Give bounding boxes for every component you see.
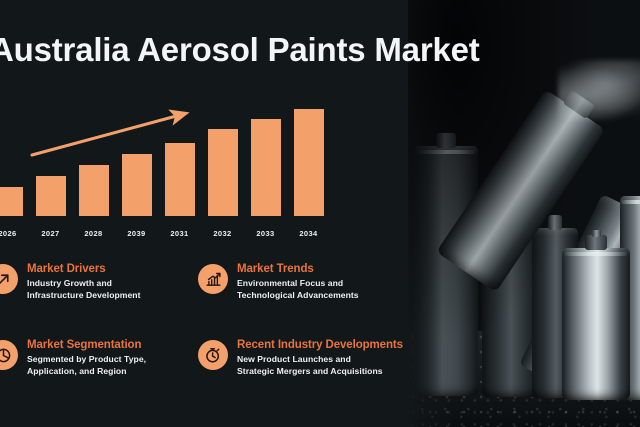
chart-bar — [36, 176, 66, 216]
chart-tick-label: 2027 — [29, 229, 72, 238]
chart-bar — [208, 129, 238, 216]
card-line: Strategic Mergers and Acquisitions — [237, 366, 403, 378]
can-cap — [548, 215, 563, 230]
arrow-up-right-icon — [0, 264, 18, 294]
market-growth-bar-chart: 20262027202820392031203220332034 — [0, 100, 330, 240]
can-cap — [436, 133, 456, 148]
card-text: Market Drivers Industry Growth and Infra… — [27, 262, 141, 302]
can-rim — [565, 252, 628, 256]
card-market-segmentation[interactable]: Market Segmentation Segmented by Product… — [0, 338, 146, 378]
chart-tick-label: 2039 — [115, 229, 158, 238]
card-text: Recent Industry Developments New Product… — [237, 338, 403, 378]
card-heading: Recent Industry Developments — [237, 339, 403, 351]
can-rim — [417, 150, 476, 154]
card-heading: Market Trends — [237, 263, 359, 275]
card-heading: Market Segmentation — [27, 339, 146, 351]
chart-bar — [79, 165, 109, 216]
chart-bars — [0, 100, 330, 216]
card-line: New Product Launches and — [237, 354, 403, 366]
card-heading: Market Drivers — [27, 263, 141, 275]
page-title: Australia Aerosol Paints Market — [0, 31, 480, 69]
card-text: Market Segmentation Segmented by Product… — [27, 338, 146, 378]
card-line: Technological Advancements — [237, 290, 359, 302]
can-rim — [621, 200, 640, 204]
can-cap — [585, 235, 607, 250]
can-body — [562, 248, 630, 400]
infographic-banner: Australia Aerosol Paints Market 20262027… — [0, 0, 640, 427]
card-line: Industry Growth and — [27, 278, 141, 290]
card-text: Market Trends Environmental Focus and Te… — [237, 262, 359, 302]
card-recent-industry-developments[interactable]: Recent Industry Developments New Product… — [198, 338, 403, 378]
card-line: Segmented by Product Type, — [27, 354, 146, 366]
can-nozzle — [592, 230, 601, 237]
chart-bar — [122, 154, 152, 216]
card-market-drivers[interactable]: Market Drivers Industry Growth and Infra… — [0, 262, 141, 302]
chart-tick-label: 2032 — [201, 229, 244, 238]
chart-tick-label: 2028 — [72, 229, 115, 238]
chart-bar — [294, 109, 324, 216]
bar-chart-growth-icon — [198, 264, 228, 294]
stopwatch-icon — [198, 340, 228, 370]
chart-bar — [251, 119, 281, 216]
card-market-trends[interactable]: Market Trends Environmental Focus and Te… — [198, 262, 359, 302]
chart-tick-label: 2031 — [158, 229, 201, 238]
spray-can-front — [562, 248, 630, 400]
card-line: Application, and Region — [27, 366, 146, 378]
card-line: Infrastructure Development — [27, 290, 141, 302]
chart-tick-label: 2034 — [287, 229, 330, 238]
chart-tick-label: 2026 — [0, 229, 29, 238]
pie-segment-icon — [0, 340, 18, 370]
card-line: Environmental Focus and — [237, 278, 359, 290]
chart-bar — [0, 187, 23, 216]
chart-bar — [165, 143, 195, 216]
can-cap — [563, 90, 596, 119]
chart-tick-label: 2033 — [244, 229, 287, 238]
